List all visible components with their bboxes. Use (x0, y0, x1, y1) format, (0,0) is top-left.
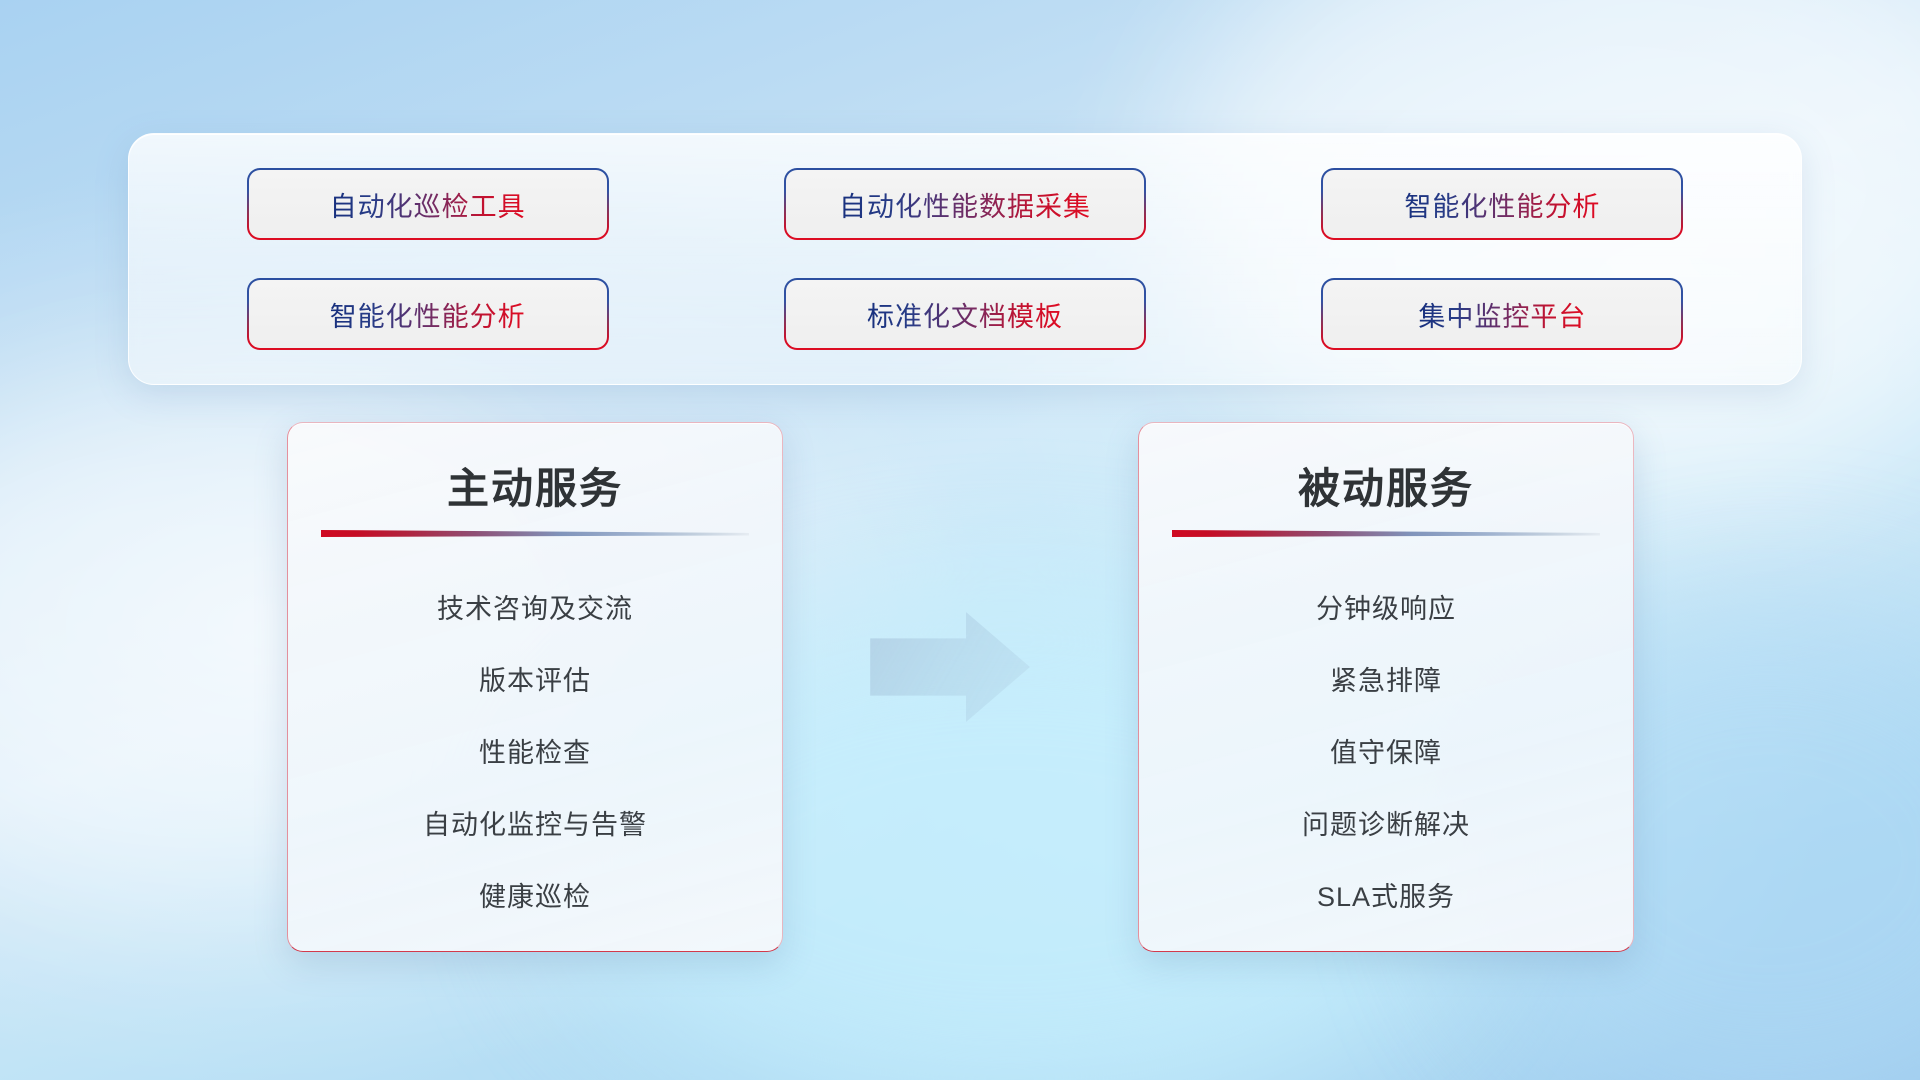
list-item: SLA式服务 (1317, 861, 1455, 933)
capability-pill-label: 智能化性能分析 (330, 295, 526, 334)
diagram-canvas: 自动化巡检工具 自动化性能数据采集 智能化性能分析 智能化性能分析 (0, 0, 1920, 1080)
list-item: 问题诊断解决 (1302, 789, 1470, 861)
list-item: 技术咨询及交流 (437, 573, 633, 645)
capability-grid: 自动化巡检工具 自动化性能数据采集 智能化性能分析 智能化性能分析 (129, 134, 1801, 384)
arrow-right-icon (870, 612, 1030, 722)
capability-pill-surface: 自动化巡检工具 (249, 170, 607, 238)
capability-pill-label: 自动化性能数据采集 (839, 185, 1091, 224)
capability-pill-label: 集中监控平台 (1418, 295, 1586, 334)
card-item-list: 技术咨询及交流 版本评估 性能检查 自动化监控与告警 健康巡检 (288, 573, 782, 927)
capability-pill-label: 智能化性能分析 (1404, 185, 1600, 224)
list-item: 性能检查 (479, 717, 591, 789)
capability-panel: 自动化巡检工具 自动化性能数据采集 智能化性能分析 智能化性能分析 (128, 133, 1802, 385)
service-card-reactive[interactable]: 被动服务 分钟级响应 紧急排障 值守保障 问题诊断解决 SLA式服务 (1138, 422, 1634, 952)
card-title: 主动服务 (288, 455, 782, 516)
capability-pill-surface: 标准化文档模板 (786, 280, 1144, 348)
capability-pill-surface: 智能化性能分析 (1323, 170, 1681, 238)
service-card-proactive[interactable]: 主动服务 技术咨询及交流 版本评估 性能检查 自动化监控与告警 健康巡检 (287, 422, 783, 952)
list-item: 分钟级响应 (1316, 573, 1456, 645)
capability-pill-6[interactable]: 集中监控平台 (1323, 280, 1681, 348)
card-divider (321, 530, 749, 537)
card-title: 被动服务 (1139, 455, 1633, 516)
card-divider (1172, 530, 1600, 537)
capability-pill-3[interactable]: 智能化性能分析 (1323, 170, 1681, 238)
capability-pill-label: 自动化巡检工具 (330, 185, 526, 224)
list-item: 健康巡检 (479, 861, 591, 933)
capability-pill-surface: 自动化性能数据采集 (786, 170, 1144, 238)
card-item-list: 分钟级响应 紧急排障 值守保障 问题诊断解决 SLA式服务 (1139, 573, 1633, 927)
capability-pill-4[interactable]: 智能化性能分析 (249, 280, 607, 348)
list-item: 紧急排障 (1330, 645, 1442, 717)
capability-pill-label: 标准化文档模板 (867, 295, 1063, 334)
list-item: 版本评估 (479, 645, 591, 717)
capability-pill-surface: 智能化性能分析 (249, 280, 607, 348)
capability-pill-1[interactable]: 自动化巡检工具 (249, 170, 607, 238)
capability-pill-5[interactable]: 标准化文档模板 (786, 280, 1144, 348)
list-item: 值守保障 (1330, 717, 1442, 789)
list-item: 自动化监控与告警 (423, 789, 647, 861)
capability-pill-surface: 集中监控平台 (1323, 280, 1681, 348)
capability-pill-2[interactable]: 自动化性能数据采集 (786, 170, 1144, 238)
